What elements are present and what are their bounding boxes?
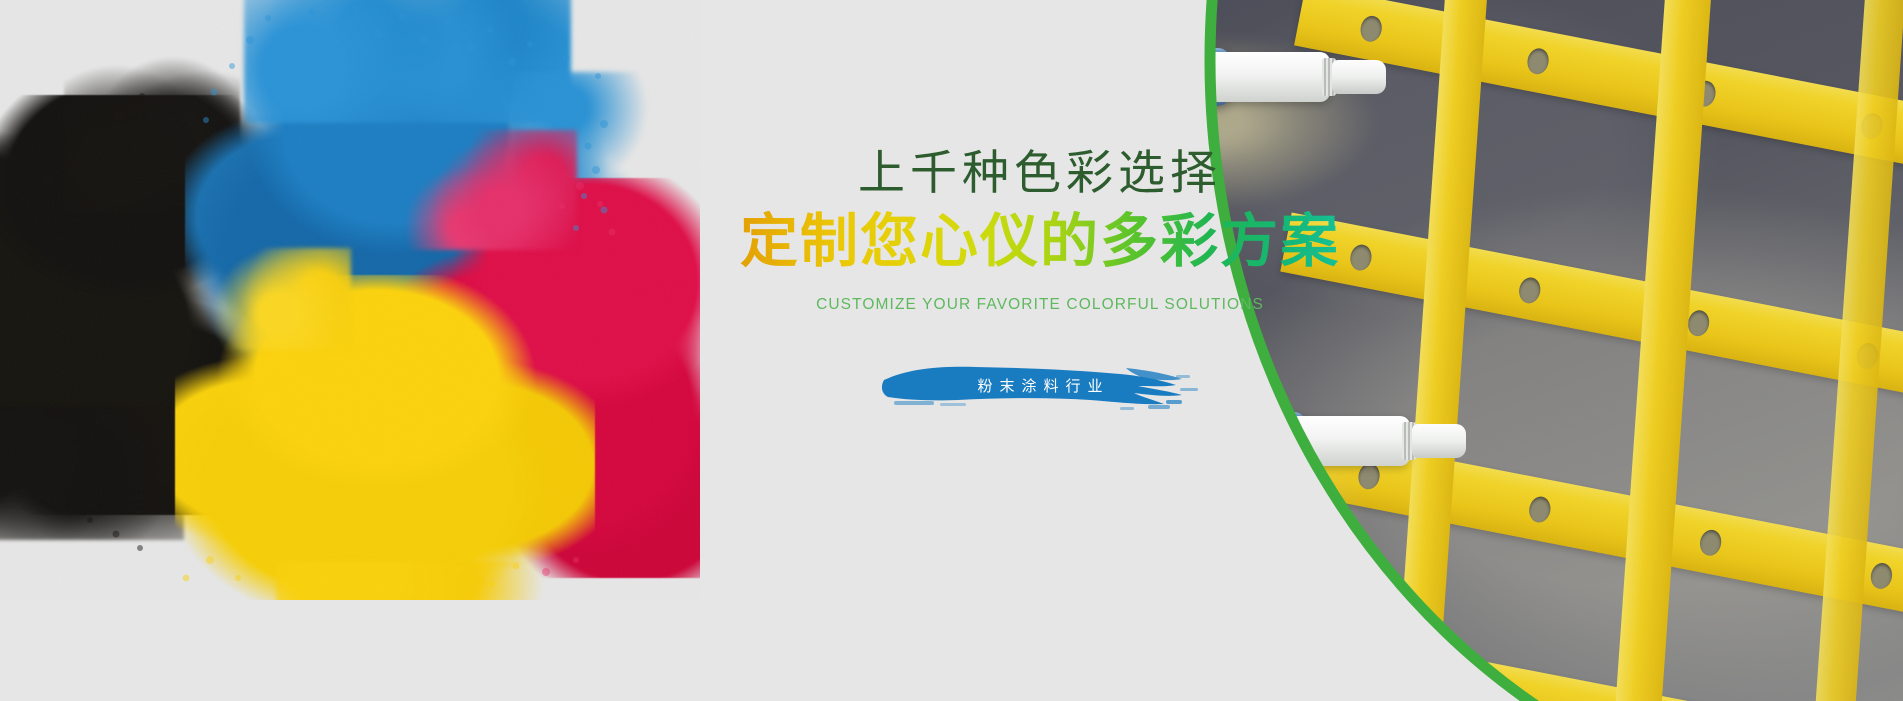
spray-gun-body-2: [1180, 412, 1306, 470]
headline-secondary: 定制您心仪的多彩方案: [660, 211, 1420, 272]
spray-gun-nozzle-2: [1412, 424, 1466, 458]
spray-gun-top: Encore: [1000, 48, 1400, 108]
spray-gun-bottom: [1180, 412, 1560, 472]
spray-gun-collar: [1202, 52, 1330, 102]
spray-gun-brand-label: Encore: [1164, 70, 1213, 85]
spray-gun-collar-2: [1280, 416, 1410, 466]
powder-pile-yellow: [175, 275, 595, 600]
cmyk-powder-image: [0, 0, 700, 600]
spray-gun-body: Encore: [1000, 48, 1230, 106]
rack-hook-bottom: [1196, 572, 1232, 616]
hero-banner: Encore 上千种色彩选择 定制您心仪的多彩方案 CUSTOMIZE YOUR…: [0, 0, 1903, 701]
spray-gun-nozzle: [1332, 60, 1386, 94]
industry-badge-label: 粉末涂料行业: [880, 375, 1200, 396]
industry-badge: 粉末涂料行业: [880, 358, 1200, 414]
headline-primary: 上千种色彩选择: [660, 150, 1420, 197]
subline-english: CUSTOMIZE YOUR FAVORITE COLORFUL SOLUTIO…: [660, 296, 1420, 314]
banner-copy: 上千种色彩选择 定制您心仪的多彩方案 CUSTOMIZE YOUR FAVORI…: [660, 150, 1420, 414]
